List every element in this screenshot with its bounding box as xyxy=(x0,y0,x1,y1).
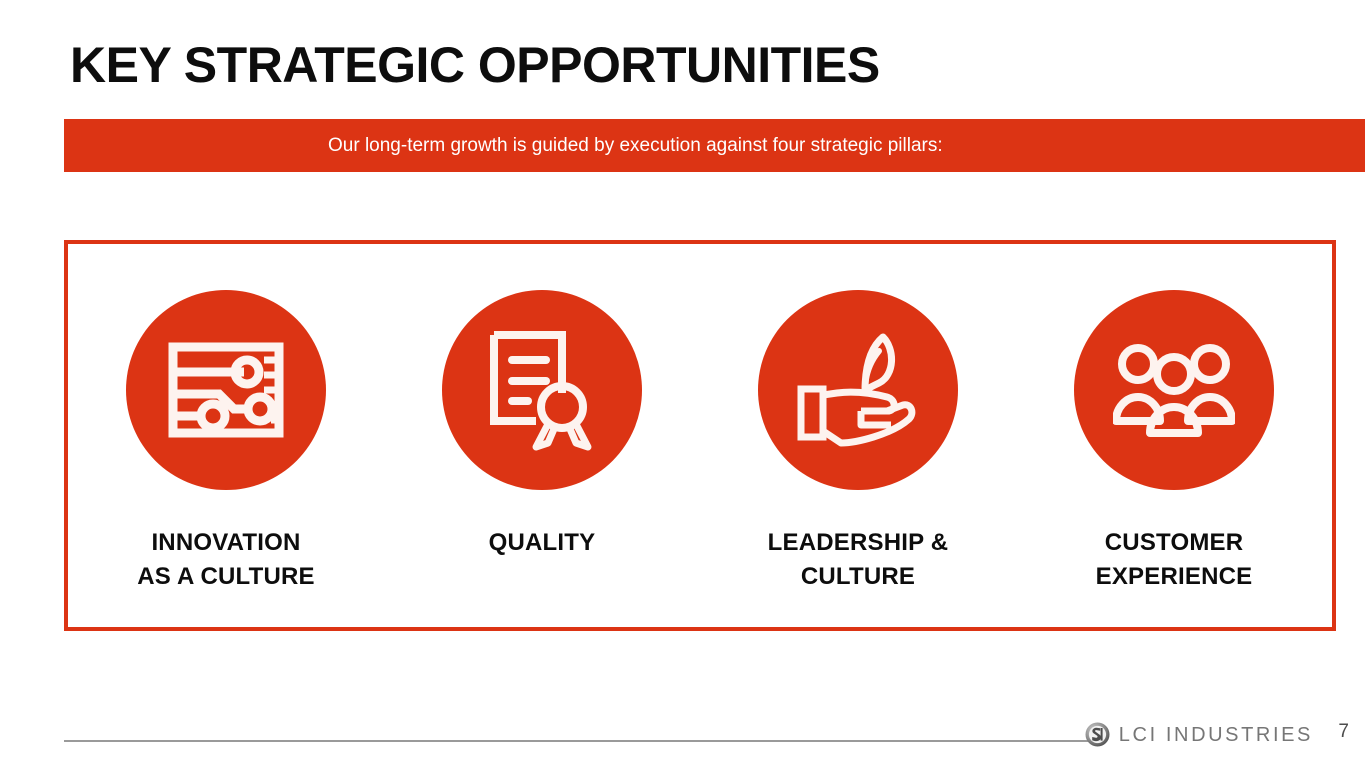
pillar-label-line2: AS A CULTURE xyxy=(137,560,315,594)
pillars-row: INNOVATION AS A CULTURE xyxy=(68,244,1332,627)
pillar-label-line1: LEADERSHIP & xyxy=(768,526,949,560)
pillar-label: QUALITY xyxy=(489,526,596,560)
page-title: KEY STRATEGIC OPPORTUNITIES xyxy=(70,36,880,94)
pillar-icon-badge xyxy=(758,290,958,490)
pillar-leadership: LEADERSHIP & CULTURE xyxy=(713,290,1003,594)
page-number: 7 xyxy=(1338,721,1349,743)
slide: KEY STRATEGIC OPPORTUNITIES Our long-ter… xyxy=(0,0,1365,768)
brand-logo: LCI INDUSTRIES xyxy=(1085,722,1313,747)
subtitle-text: Our long-term growth is guided by execut… xyxy=(64,135,943,157)
pillar-quality: QUALITY xyxy=(397,290,687,560)
pillar-label-line2: CULTURE xyxy=(768,560,949,594)
pillar-icon-badge xyxy=(442,290,642,490)
pillar-icon-badge xyxy=(126,290,326,490)
pillar-innovation: INNOVATION AS A CULTURE xyxy=(81,290,371,594)
footer-divider xyxy=(64,740,1100,742)
pillar-label: LEADERSHIP & CULTURE xyxy=(768,526,949,594)
people-group-icon xyxy=(1113,343,1235,437)
pillar-label-line2: EXPERIENCE xyxy=(1096,560,1253,594)
brand-name: LCI INDUSTRIES xyxy=(1119,724,1313,746)
pillar-label: CUSTOMER EXPERIENCE xyxy=(1096,526,1253,594)
pillar-icon-badge xyxy=(1074,290,1274,490)
certificate-award-icon xyxy=(488,329,596,451)
pillar-label-line1: QUALITY xyxy=(489,526,596,560)
hand-holding-plant-icon xyxy=(795,331,921,449)
pillar-customer: CUSTOMER EXPERIENCE xyxy=(1029,290,1319,594)
subtitle-banner: Our long-term growth is guided by execut… xyxy=(64,119,1365,172)
lci-monogram-logo-icon xyxy=(1085,722,1110,747)
circuit-board-icon xyxy=(168,342,284,438)
pillar-label-line1: INNOVATION xyxy=(137,526,315,560)
pillar-label-line1: CUSTOMER xyxy=(1096,526,1253,560)
pillars-container: INNOVATION AS A CULTURE xyxy=(64,240,1336,631)
pillar-label: INNOVATION AS A CULTURE xyxy=(137,526,315,594)
